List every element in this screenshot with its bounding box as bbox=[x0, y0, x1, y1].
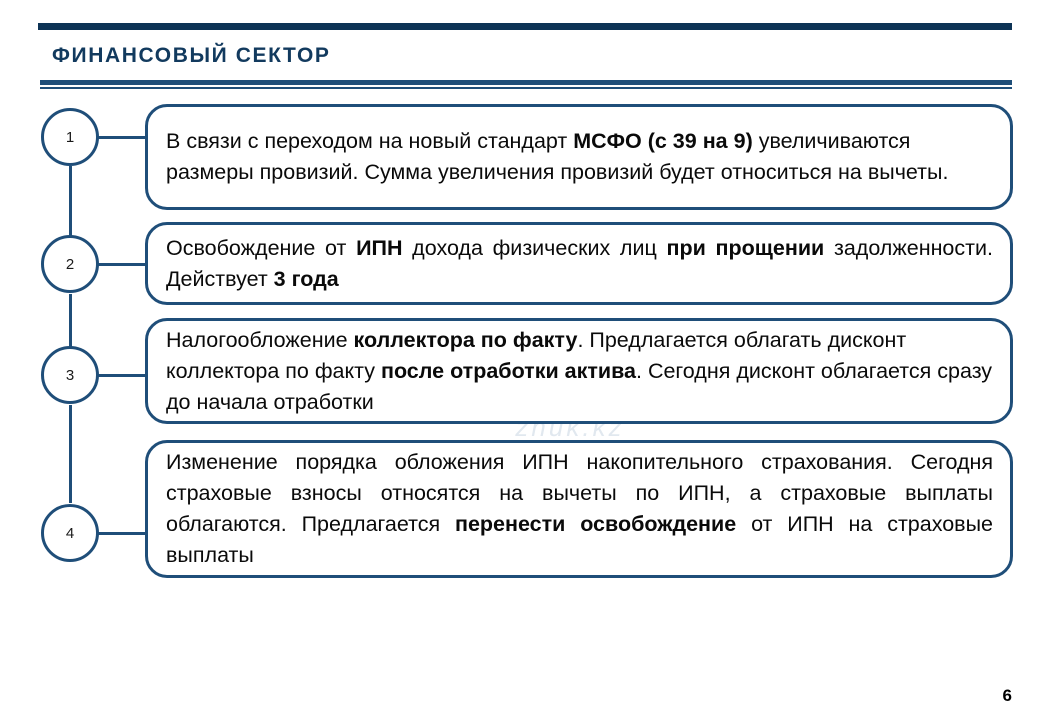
header-underline-thick bbox=[40, 80, 1012, 85]
connector-stub-1 bbox=[98, 136, 148, 139]
page-title: ФИНАНСОВЫЙ СЕКТОР bbox=[52, 44, 331, 68]
item-text-4: Изменение порядка обложения ИПН накопите… bbox=[166, 447, 993, 571]
header-top-rule bbox=[38, 23, 1012, 30]
step-circle-3[interactable]: 3 bbox=[41, 346, 99, 404]
connector-stub-2 bbox=[98, 263, 148, 266]
item-box-3[interactable]: Налогообложение коллектора по факту. Пре… bbox=[145, 318, 1013, 424]
connector-segment-3-4 bbox=[69, 405, 72, 503]
item-box-1[interactable]: В связи с переходом на новый стандарт МС… bbox=[145, 104, 1013, 210]
connector-stub-3 bbox=[98, 374, 148, 377]
item-box-2[interactable]: Освобождение от ИПН дохода физических ли… bbox=[145, 222, 1013, 305]
item-text-1: В связи с переходом на новый стандарт МС… bbox=[166, 126, 993, 188]
step-circle-1-label: 1 bbox=[66, 129, 74, 146]
header-underline-thin bbox=[40, 87, 1012, 89]
step-circle-1[interactable]: 1 bbox=[41, 108, 99, 166]
step-circle-4-label: 4 bbox=[66, 525, 74, 542]
slide-canvas: ФИНАНСОВЫЙ СЕКТОР zhuk.kz 1 2 3 4 В связ… bbox=[0, 0, 1040, 720]
item-text-3: Налогообложение коллектора по факту. Пре… bbox=[166, 325, 993, 418]
connector-segment-1-2 bbox=[69, 166, 72, 241]
step-circle-4[interactable]: 4 bbox=[41, 504, 99, 562]
connector-stub-4 bbox=[98, 532, 148, 535]
step-circle-3-label: 3 bbox=[66, 367, 74, 384]
step-circle-2-label: 2 bbox=[66, 256, 74, 273]
step-circle-2[interactable]: 2 bbox=[41, 235, 99, 293]
item-box-4[interactable]: Изменение порядка обложения ИПН накопите… bbox=[145, 440, 1013, 578]
item-text-2: Освобождение от ИПН дохода физических ли… bbox=[166, 233, 993, 295]
page-number: 6 bbox=[1003, 686, 1012, 706]
